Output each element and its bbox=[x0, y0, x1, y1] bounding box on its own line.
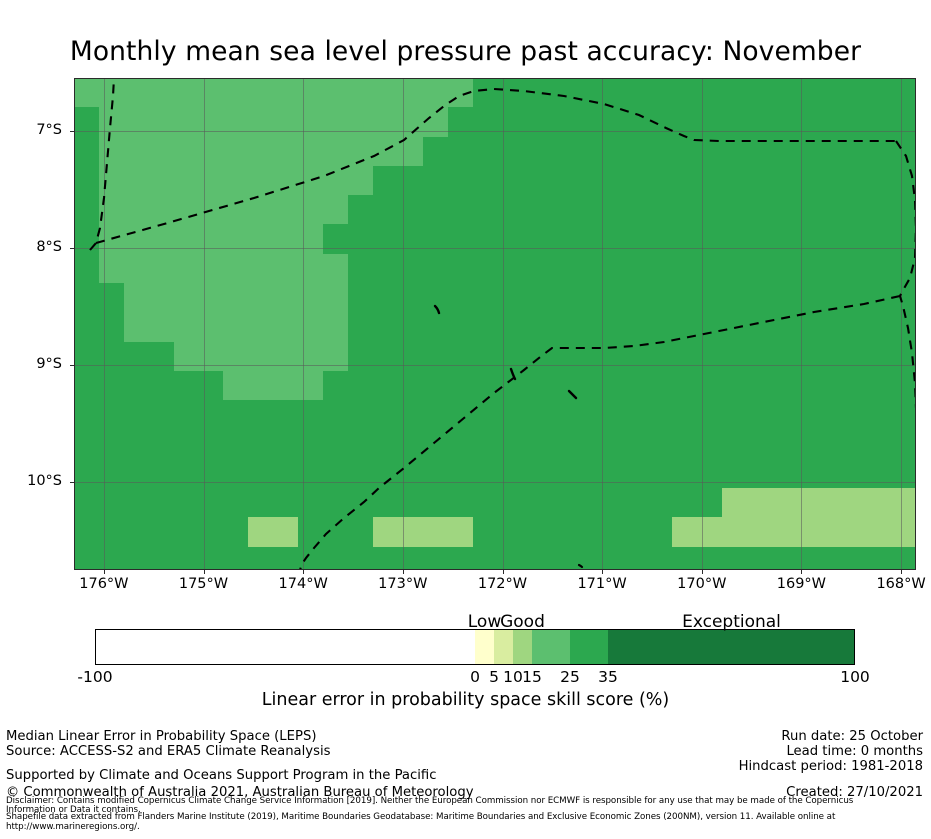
footer-lead-time: Lead time: 0 months bbox=[786, 744, 923, 760]
colorbar-segment[interactable] bbox=[513, 629, 532, 665]
footer-source-label: Source: ACCESS-S2 and ERA5 Climate Reana… bbox=[6, 744, 331, 760]
map-plot-area[interactable] bbox=[74, 78, 916, 570]
x-axis-tick-label: 172°W bbox=[463, 576, 543, 592]
footer-created-date: Created: 27/10/2021 bbox=[786, 785, 923, 801]
footer-shapefile-line2: http://www.marineregions.org/. bbox=[6, 823, 931, 833]
x-axis-tick-label: 169°W bbox=[761, 576, 841, 592]
x-tickmark bbox=[503, 570, 504, 574]
x-axis-tick-label: 173°W bbox=[363, 576, 443, 592]
colorbar-segment[interactable] bbox=[95, 629, 475, 665]
y-axis-tick-label: 7°S bbox=[0, 122, 62, 138]
x-tickmark bbox=[602, 570, 603, 574]
y-axis-tick-label: 8°S bbox=[0, 239, 62, 255]
x-tickmark bbox=[801, 570, 802, 574]
colorbar-tick-label: 35 bbox=[563, 668, 653, 686]
colorbar-category-label: Good bbox=[423, 612, 623, 632]
colorbar-segment[interactable] bbox=[494, 629, 513, 665]
x-axis-tick-label: 168°W bbox=[861, 576, 931, 592]
footer-hindcast-period: Hindcast period: 1981-2018 bbox=[739, 759, 923, 775]
y-tickmark bbox=[70, 131, 74, 132]
page-title: Monthly mean sea level pressure past acc… bbox=[0, 36, 931, 67]
x-tickmark bbox=[702, 570, 703, 574]
colorbar-tick-label: -100 bbox=[50, 668, 140, 686]
colorbar-category-label: Exceptional bbox=[632, 612, 832, 632]
y-tickmark bbox=[70, 248, 74, 249]
x-tickmark bbox=[303, 570, 304, 574]
footer-shapefile-line1: Shapefile data extracted from Flanders M… bbox=[6, 813, 931, 823]
x-axis-tick-label: 174°W bbox=[263, 576, 343, 592]
x-tickmark bbox=[403, 570, 404, 574]
y-tickmark bbox=[70, 365, 74, 366]
footer-leps-label: Median Linear Error in Probability Space… bbox=[6, 729, 316, 745]
x-tickmark bbox=[104, 570, 105, 574]
colorbar[interactable] bbox=[95, 629, 855, 665]
island-markers bbox=[74, 78, 916, 570]
y-tickmark bbox=[70, 482, 74, 483]
footer-support-label: Supported by Climate and Oceans Support … bbox=[6, 768, 436, 784]
x-axis-tick-label: 176°W bbox=[64, 576, 144, 592]
x-axis-tick-label: 171°W bbox=[562, 576, 642, 592]
colorbar-tick-label: 100 bbox=[810, 668, 900, 686]
colorbar-title: Linear error in probability space skill … bbox=[0, 690, 931, 710]
x-tickmark bbox=[901, 570, 902, 574]
colorbar-segment[interactable] bbox=[570, 629, 608, 665]
colorbar-segment[interactable] bbox=[475, 629, 494, 665]
x-tickmark bbox=[204, 570, 205, 574]
x-axis-tick-label: 175°W bbox=[164, 576, 244, 592]
y-axis-tick-label: 10°S bbox=[0, 473, 62, 489]
x-axis-tick-label: 170°W bbox=[662, 576, 742, 592]
footer-run-date: Run date: 25 October bbox=[781, 729, 923, 745]
y-axis-tick-label: 9°S bbox=[0, 356, 62, 372]
figure-root: Monthly mean sea level pressure past acc… bbox=[0, 0, 931, 839]
colorbar-segment[interactable] bbox=[608, 629, 855, 665]
colorbar-segment[interactable] bbox=[532, 629, 570, 665]
